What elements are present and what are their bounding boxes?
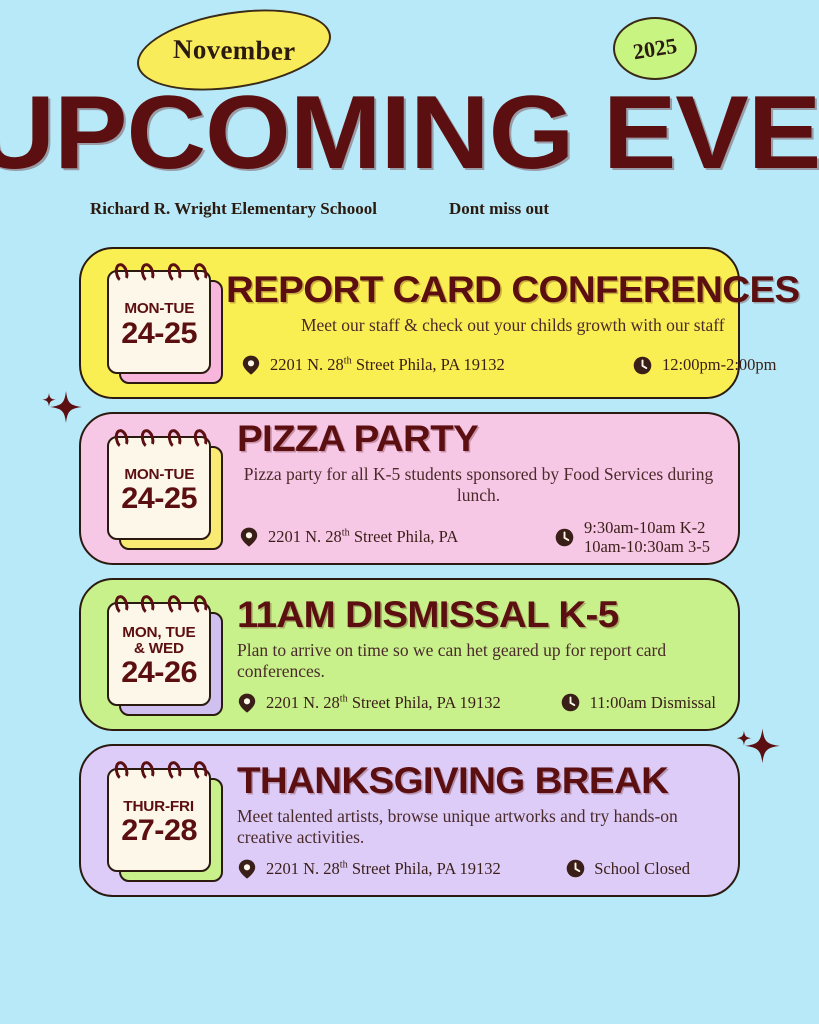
location-pin-icon xyxy=(241,355,261,375)
calendar-rings xyxy=(115,761,207,783)
calendar-ring xyxy=(139,593,156,615)
year-badge: 2025 xyxy=(613,17,697,80)
event-time: 9:30am-10am K-2 10am-10:30am 3-5 xyxy=(555,518,710,557)
calendar-ring xyxy=(192,427,209,449)
events-list: MON-TUE 24-25 REPORT CARD CONFERENCES Me… xyxy=(0,247,819,910)
calendar-front-page: MON, TUE & WED 24-26 xyxy=(107,602,211,706)
event-meta-row: 2201 N. 28th Street Phila, PA 19132 Scho… xyxy=(237,859,720,879)
calendar-ring xyxy=(113,593,130,615)
event-meta-row: 2201 N. 28th Street Phila, PA 19132 12:0… xyxy=(237,355,789,375)
event-location: 2201 N. 28th Street Phila, PA 19132 xyxy=(237,859,501,879)
calendar-ring xyxy=(166,427,183,449)
calendar-dates: 24-26 xyxy=(121,658,197,688)
event-time-text: 12:00pm-2:00pm xyxy=(662,355,777,375)
tagline: Dont miss out xyxy=(449,199,549,219)
calendar-ring xyxy=(139,427,156,449)
event-time-text: 9:30am-10am K-2 10am-10:30am 3-5 xyxy=(584,518,710,557)
ordinal-suffix: th xyxy=(342,528,350,539)
event-time: School Closed xyxy=(565,859,690,879)
clock-icon xyxy=(633,355,653,375)
event-title: THANKSGIVING BREAK xyxy=(237,762,739,800)
calendar-rings xyxy=(115,263,207,285)
event-location-text: 2201 N. 28th Street Phila, PA 19132 xyxy=(270,355,505,375)
calendar-dates: 24-25 xyxy=(121,484,197,514)
clock-icon xyxy=(555,527,575,547)
calendar-dates: 24-25 xyxy=(121,319,197,349)
ordinal-suffix: th xyxy=(340,693,348,704)
event-location: 2201 N. 28th Street Phila, PA 19132 xyxy=(241,355,505,375)
poster-header: November 2025 UPCOMING EVENTS Richard R.… xyxy=(0,0,819,240)
event-description: Meet our staff & check out your childs g… xyxy=(237,315,789,336)
calendar-ring xyxy=(166,262,183,284)
year-badge-label: 2025 xyxy=(631,32,679,65)
location-pin-icon xyxy=(239,527,259,547)
calendar-ring xyxy=(113,427,130,449)
event-body: REPORT CARD CONFERENCES Meet our staff &… xyxy=(229,261,789,385)
ordinal-suffix: th xyxy=(344,356,352,367)
event-time: 12:00pm-2:00pm xyxy=(633,355,777,375)
calendar-icon: THUR-FRI 27-28 xyxy=(103,758,229,884)
event-location: 2201 N. 28th Street Phila, PA xyxy=(239,527,458,547)
subtitle-row: Richard R. Wright Elementary Schoool Don… xyxy=(90,199,549,219)
event-title: REPORT CARD CONFERENCES xyxy=(226,271,800,309)
event-time-text: 11:00am Dismissal xyxy=(590,693,716,713)
calendar-ring xyxy=(113,759,130,781)
calendar-icon: MON-TUE 24-25 xyxy=(103,426,229,552)
event-title: 11AM DISMISSAL K-5 xyxy=(237,596,739,634)
event-meta-row: 2201 N. 28th Street Phila, PA 9:30am-10a… xyxy=(237,518,720,557)
calendar-ring xyxy=(139,262,156,284)
event-time: 11:00am Dismissal xyxy=(561,693,716,713)
event-body: 11AM DISMISSAL K-5 Plan to arrive on tim… xyxy=(229,592,720,717)
calendar-front-page: MON-TUE 24-25 xyxy=(107,436,211,540)
event-card[interactable]: MON-TUE 24-25 REPORT CARD CONFERENCES Me… xyxy=(79,247,740,399)
event-title: PIZZA PARTY xyxy=(237,420,739,458)
location-pin-icon xyxy=(237,693,257,713)
calendar-days-of-week: MON-TUE xyxy=(124,301,194,316)
event-location-text: 2201 N. 28th Street Phila, PA 19132 xyxy=(266,859,501,879)
calendar-front-page: MON-TUE 24-25 xyxy=(107,270,211,374)
calendar-ring xyxy=(192,759,209,781)
calendar-rings xyxy=(115,429,207,451)
ordinal-suffix: th xyxy=(340,859,348,870)
event-card[interactable]: MON-TUE 24-25 PIZZA PARTY Pizza party fo… xyxy=(79,412,740,565)
calendar-front-page: THUR-FRI 27-28 xyxy=(107,768,211,872)
calendar-ring xyxy=(139,759,156,781)
calendar-days-of-week: MON, TUE & WED xyxy=(122,625,195,656)
school-name: Richard R. Wright Elementary Schoool xyxy=(90,199,377,219)
calendar-icon: MON-TUE 24-25 xyxy=(103,260,229,386)
calendar-days-of-week: MON-TUE xyxy=(124,467,194,482)
event-description: Plan to arrive on time so we can het gea… xyxy=(237,640,720,681)
calendar-ring xyxy=(166,593,183,615)
event-card[interactable]: THUR-FRI 27-28 THANKSGIVING BREAK Meet t… xyxy=(79,744,740,897)
event-description: Pizza party for all K-5 students sponsor… xyxy=(237,464,720,505)
clock-icon xyxy=(561,693,581,713)
calendar-ring xyxy=(192,262,209,284)
event-meta-row: 2201 N. 28th Street Phila, PA 19132 11:0… xyxy=(237,693,720,713)
calendar-days-of-week: THUR-FRI xyxy=(124,799,195,814)
calendar-dates: 27-28 xyxy=(121,816,197,846)
event-body: PIZZA PARTY Pizza party for all K-5 stud… xyxy=(229,426,720,551)
calendar-ring xyxy=(166,759,183,781)
event-description: Meet talented artists, browse unique art… xyxy=(237,806,720,847)
event-time-text: School Closed xyxy=(594,859,690,879)
calendar-ring xyxy=(113,262,130,284)
calendar-rings xyxy=(115,595,207,617)
page-title: UPCOMING EVENTS xyxy=(0,86,819,182)
clock-icon xyxy=(565,859,585,879)
location-pin-icon xyxy=(237,859,257,879)
event-card[interactable]: MON, TUE & WED 24-26 11AM DISMISSAL K-5 … xyxy=(79,578,740,731)
event-location-text: 2201 N. 28th Street Phila, PA 19132 xyxy=(266,693,501,713)
event-location: 2201 N. 28th Street Phila, PA 19132 xyxy=(237,693,501,713)
event-body: THANKSGIVING BREAK Meet talented artists… xyxy=(229,758,720,883)
calendar-ring xyxy=(192,593,209,615)
month-badge-label: November xyxy=(173,33,296,66)
event-location-text: 2201 N. 28th Street Phila, PA xyxy=(268,527,458,547)
calendar-icon: MON, TUE & WED 24-26 xyxy=(103,592,229,718)
